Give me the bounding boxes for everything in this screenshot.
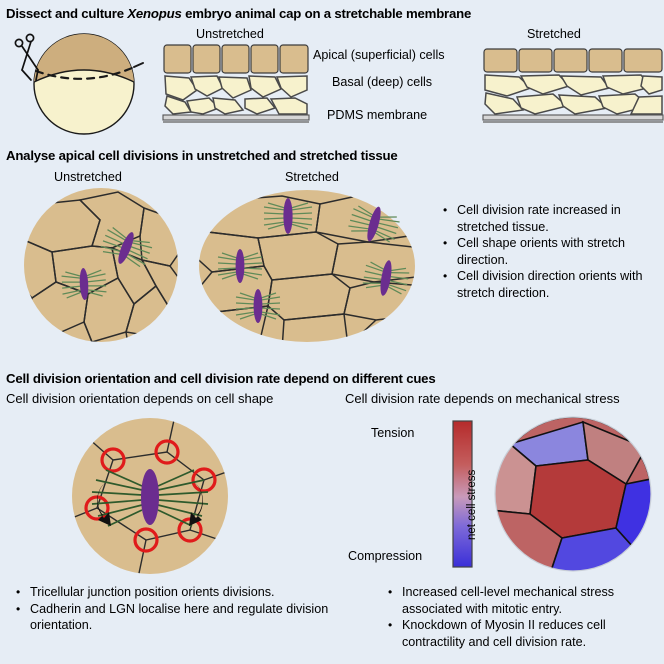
bullet-item: Cell division rate increased in stretche… [441, 202, 663, 235]
tissue-unstretched [163, 44, 309, 124]
tissue-stretched [483, 44, 663, 124]
colorbar-top-label: Tension [371, 426, 414, 440]
figure-root: Dissect and culture Xenopus embryo anima… [0, 0, 664, 664]
row-label-apical: Apical (superficial) cells [313, 48, 445, 62]
row-label-pdms: PDMS membrane [327, 108, 427, 122]
colorbar-axis-label: net cell stress [466, 470, 478, 540]
bullet-item: Cell division direction orients with str… [441, 268, 663, 301]
section3-left-bullets: Tricellular junction position orients di… [14, 584, 344, 634]
row-label-basal: Basal (deep) cells [332, 75, 432, 89]
tissue-unstretched-label: Unstretched [196, 27, 264, 41]
apical-unstretched-label: Unstretched [54, 170, 122, 184]
section2-title: Analyse apical cell divisions in unstret… [6, 148, 398, 163]
apical-stretched [198, 190, 416, 342]
section2-bullets: Cell division rate increased in stretche… [441, 202, 663, 301]
colorbar-bottom-label: Compression [348, 549, 422, 563]
section3-right-bullets: Increased cell-level mechanical stress a… [386, 584, 664, 650]
section1-title: Dissect and culture Xenopus embryo anima… [6, 6, 471, 21]
mechanical-stress-cell-cluster [488, 416, 658, 572]
apical-unstretched [22, 186, 180, 344]
bullet-item: Knockdown of Myosin II reduces cell cont… [386, 617, 664, 650]
tricellular-junction-diagram [62, 418, 238, 578]
section1-title-part1: Dissect and culture [6, 6, 127, 21]
bullet-item: Tricellular junction position orients di… [14, 584, 344, 601]
xenopus-embryo [2, 24, 160, 140]
section3-right-subtitle: Cell division rate depends on mechanical… [345, 391, 620, 406]
mitotic-spindle-chromosome [141, 469, 159, 525]
section3-title: Cell division orientation and cell divis… [6, 371, 435, 386]
bullet-item: Cadherin and LGN localise here and regul… [14, 601, 344, 634]
section1-title-italic: Xenopus [127, 6, 181, 21]
bullet-item: Cell shape orients with stretch directio… [441, 235, 663, 268]
tissue-stretched-label: Stretched [527, 27, 581, 41]
bullet-item: Increased cell-level mechanical stress a… [386, 584, 664, 617]
apical-stretched-label: Stretched [285, 170, 339, 184]
section1-title-part2: embryo animal cap on a stretchable membr… [182, 6, 472, 21]
section3-left-subtitle: Cell division orientation depends on cel… [6, 391, 273, 406]
